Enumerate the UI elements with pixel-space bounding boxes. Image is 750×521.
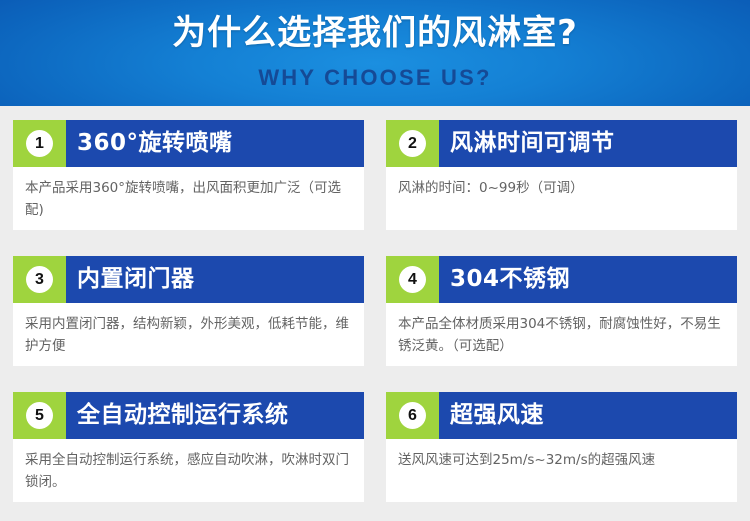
feature-card-header: 5 全自动控制运行系统 — [13, 392, 364, 439]
feature-card-1: 1 360°旋转喷嘴 本产品采用360°旋转喷嘴，出风面积更加广泛（可选配) — [13, 120, 364, 230]
feature-description: 采用全自动控制运行系统，感应自动吹淋，吹淋时双门锁闭。 — [13, 439, 364, 501]
feature-description: 送风风速可达到25m/s~32m/s的超强风速 — [386, 439, 737, 479]
why-choose-us-page: 为什么选择我们的风淋室? WHY CHOOSE US? 1 360°旋转喷嘴 本… — [0, 0, 750, 521]
page-subtitle: WHY CHOOSE US? — [0, 64, 750, 92]
feature-card-6: 6 超强风速 送风风速可达到25m/s~32m/s的超强风速 — [386, 392, 737, 502]
feature-card-header: 1 360°旋转喷嘴 — [13, 120, 364, 167]
feature-title: 内置闭门器 — [66, 256, 364, 303]
feature-number-badge: 4 — [399, 266, 426, 293]
feature-title: 304不锈钢 — [439, 256, 737, 303]
feature-card-header: 4 304不锈钢 — [386, 256, 737, 303]
feature-number-block: 2 — [386, 120, 439, 167]
feature-number-badge: 2 — [399, 130, 426, 157]
feature-number-block: 3 — [13, 256, 66, 303]
feature-title: 风淋时间可调节 — [439, 120, 737, 167]
feature-card-header: 6 超强风速 — [386, 392, 737, 439]
feature-card-header: 2 风淋时间可调节 — [386, 120, 737, 167]
feature-number-badge: 6 — [399, 402, 426, 429]
page-title: 为什么选择我们的风淋室? — [0, 8, 750, 58]
feature-description: 本产品采用360°旋转喷嘴，出风面积更加广泛（可选配) — [13, 167, 364, 229]
feature-title: 360°旋转喷嘴 — [66, 120, 364, 167]
feature-card-3: 3 内置闭门器 采用内置闭门器，结构新颖，外形美观，低耗节能，维护方便 — [13, 256, 364, 366]
feature-number-badge: 5 — [26, 402, 53, 429]
feature-description: 采用内置闭门器，结构新颖，外形美观，低耗节能，维护方便 — [13, 303, 364, 365]
feature-title: 全自动控制运行系统 — [66, 392, 364, 439]
feature-number-block: 6 — [386, 392, 439, 439]
feature-card-5: 5 全自动控制运行系统 采用全自动控制运行系统，感应自动吹淋，吹淋时双门锁闭。 — [13, 392, 364, 502]
feature-description: 本产品全体材质采用304不锈钢，耐腐蚀性好，不易生锈泛黄。（可选配） — [386, 303, 737, 365]
feature-card-header: 3 内置闭门器 — [13, 256, 364, 303]
feature-description: 风淋的时间：0~99秒（可调） — [386, 167, 737, 207]
feature-number-badge: 3 — [26, 266, 53, 293]
header-banner: 为什么选择我们的风淋室? WHY CHOOSE US? — [0, 0, 750, 106]
feature-card-2: 2 风淋时间可调节 风淋的时间：0~99秒（可调） — [386, 120, 737, 230]
feature-number-badge: 1 — [26, 130, 53, 157]
feature-number-block: 1 — [13, 120, 66, 167]
feature-card-grid: 1 360°旋转喷嘴 本产品采用360°旋转喷嘴，出风面积更加广泛（可选配) 2… — [0, 106, 750, 521]
feature-card-4: 4 304不锈钢 本产品全体材质采用304不锈钢，耐腐蚀性好，不易生锈泛黄。（可… — [386, 256, 737, 366]
feature-title: 超强风速 — [439, 392, 737, 439]
feature-number-block: 5 — [13, 392, 66, 439]
feature-number-block: 4 — [386, 256, 439, 303]
